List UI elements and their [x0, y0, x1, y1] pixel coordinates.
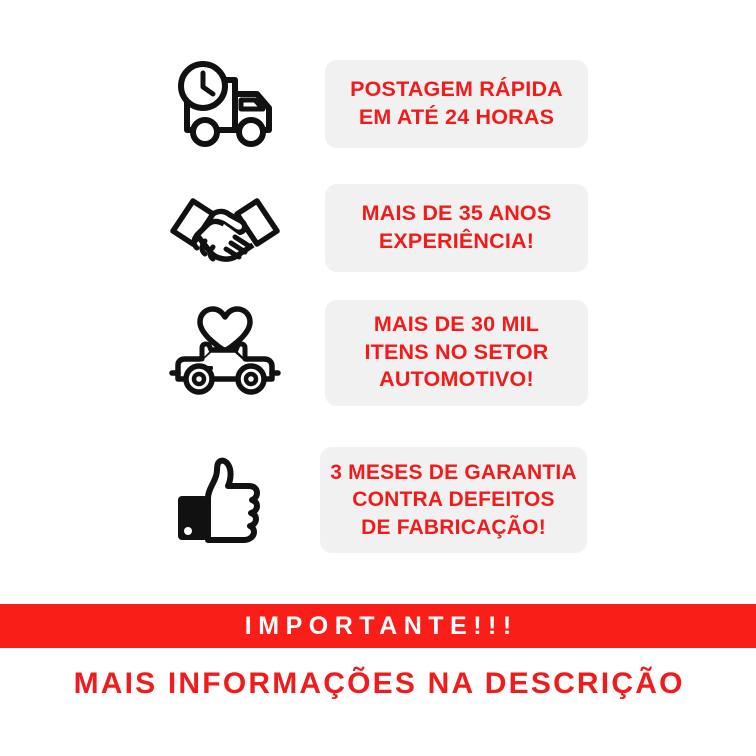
benefit-text-line: EM ATÉ 24 HORAS	[359, 104, 554, 132]
benefit-text-line: AUTOMOTIVO!	[379, 366, 534, 394]
benefit-text-warranty: 3 MESES DE GARANTIA CONTRA DEFEITOS DE F…	[320, 447, 587, 553]
benefit-text-line: ITENS NO SETOR	[365, 339, 549, 367]
benefit-item-automotive-items: MAIS DE 30 MIL ITENS NO SETOR AUTOMOTIVO…	[160, 290, 600, 415]
benefit-item-fast-shipping: POSTAGEM RÁPIDA EM ATÉ 24 HORAS	[160, 46, 600, 161]
benefit-text-line: EXPERIÊNCIA!	[379, 228, 534, 256]
benefit-text-experience: MAIS DE 35 ANOS EXPERIÊNCIA!	[325, 184, 588, 272]
promo-banner-page: POSTAGEM RÁPIDA EM ATÉ 24 HORAS	[0, 0, 756, 756]
important-banner-label: IMPORTANTE!!!	[238, 612, 517, 641]
benefit-text-line: CONTRA DEFEITOS	[352, 486, 555, 513]
benefit-text-line: POSTAGEM RÁPIDA	[350, 76, 563, 104]
description-callout: MAIS INFORMAÇÕES NA DESCRIÇÃO	[0, 656, 756, 712]
benefit-text-line: DE FABRICAÇÃO!	[361, 514, 546, 541]
benefit-text-line: MAIS DE 30 MIL	[374, 311, 539, 339]
benefit-text-fast-shipping: POSTAGEM RÁPIDA EM ATÉ 24 HORAS	[325, 60, 588, 148]
description-callout-label: MAIS INFORMAÇÕES NA DESCRIÇÃO	[71, 667, 684, 701]
benefit-text-line: 3 MESES DE GARANTIA	[330, 459, 577, 486]
car-heart-icon	[160, 290, 290, 415]
delivery-truck-clock-icon	[160, 46, 290, 161]
benefits-list: POSTAGEM RÁPIDA EM ATÉ 24 HORAS	[0, 40, 756, 570]
thumbs-up-icon	[160, 436, 290, 564]
benefit-text-line: MAIS DE 35 ANOS	[362, 200, 552, 228]
benefit-item-experience: MAIS DE 35 ANOS EXPERIÊNCIA!	[160, 170, 600, 285]
important-banner: IMPORTANTE!!!	[0, 604, 756, 648]
benefit-item-warranty: 3 MESES DE GARANTIA CONTRA DEFEITOS DE F…	[160, 436, 600, 564]
benefit-text-automotive-items: MAIS DE 30 MIL ITENS NO SETOR AUTOMOTIVO…	[325, 300, 588, 406]
handshake-icon	[160, 170, 290, 285]
